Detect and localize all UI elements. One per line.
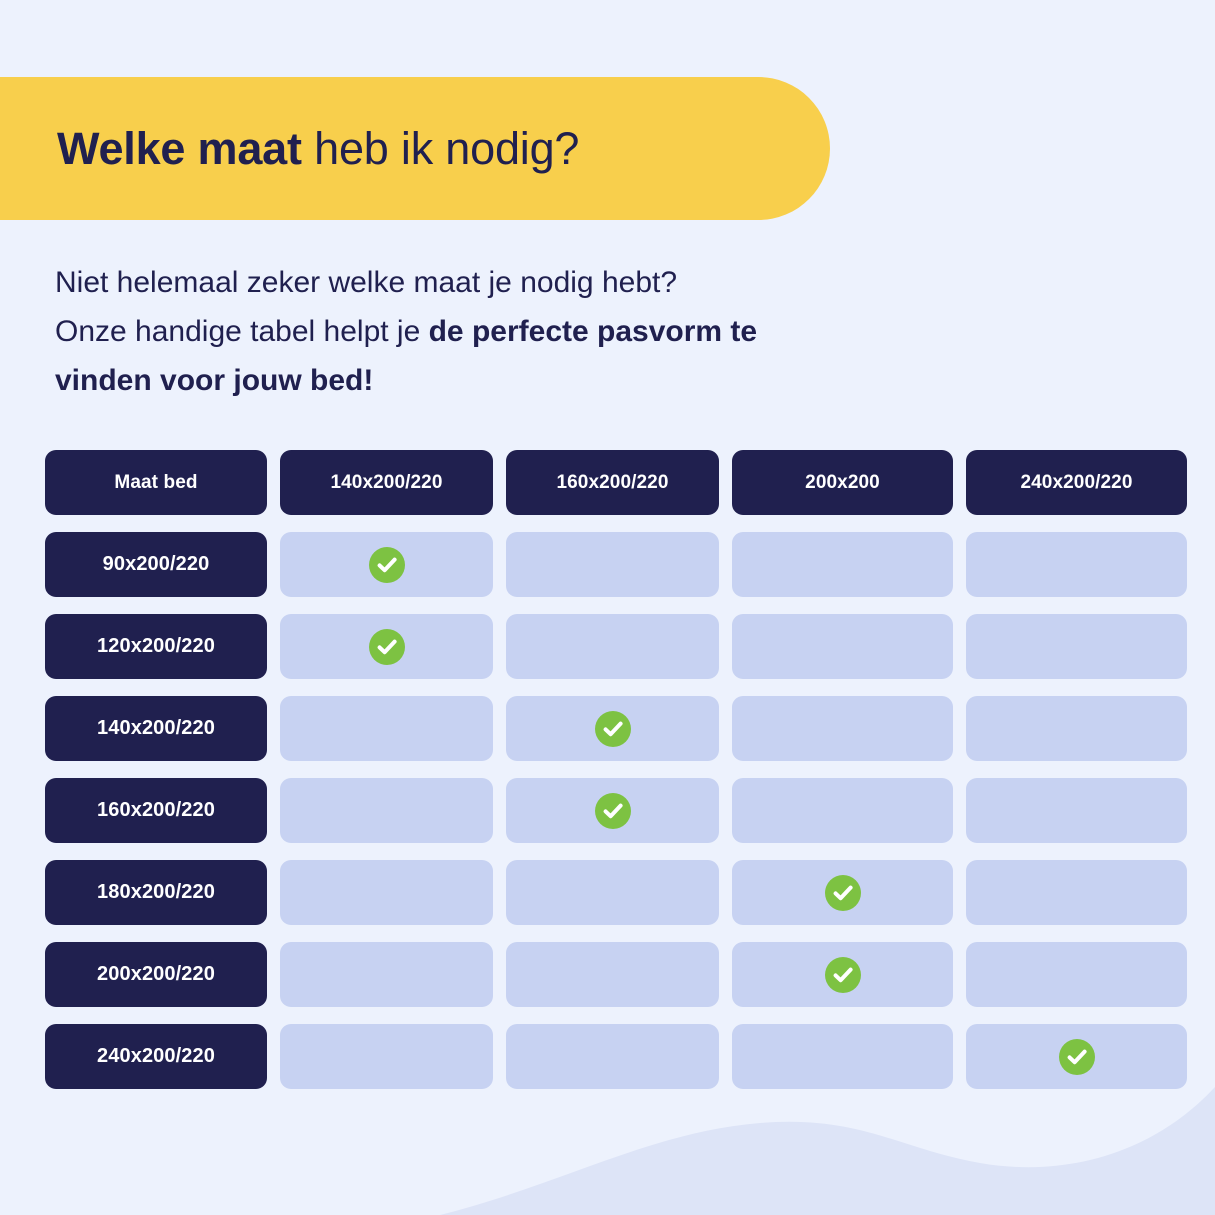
table-row-label: 90x200/220	[45, 532, 267, 597]
bed-size-table: Maat bed140x200/220160x200/220200x200240…	[45, 450, 1170, 1089]
header-banner: Welke maat heb ik nodig?	[0, 77, 830, 220]
table-header-cell: 200x200	[732, 450, 953, 515]
table-row: 240x200/220	[45, 1024, 1170, 1089]
table-row-label: 240x200/220	[45, 1024, 267, 1089]
table-row-label: 120x200/220	[45, 614, 267, 679]
table-cell-empty	[732, 614, 953, 679]
intro-line-3-bold: vinden voor jouw bed!	[55, 364, 373, 397]
table-row-label: 140x200/220	[45, 696, 267, 761]
table-cell-empty	[280, 1024, 493, 1089]
table-cell-empty	[966, 696, 1187, 761]
table-cell-empty	[732, 778, 953, 843]
table-cell-checked	[732, 860, 953, 925]
table-cell-empty	[280, 860, 493, 925]
table-cell-empty	[280, 942, 493, 1007]
table-header-row: Maat bed140x200/220160x200/220200x200240…	[45, 450, 1170, 515]
table-cell-empty	[732, 532, 953, 597]
table-header-cell: 160x200/220	[506, 450, 719, 515]
intro-paragraph: Niet helemaal zeker welke maat je nodig …	[55, 258, 1015, 405]
table-cell-empty	[280, 696, 493, 761]
table-cell-checked	[966, 1024, 1187, 1089]
table-row-label: 180x200/220	[45, 860, 267, 925]
intro-line-3: vinden voor jouw bed!	[55, 356, 1015, 405]
table-row: 120x200/220	[45, 614, 1170, 679]
table-cell-empty	[732, 696, 953, 761]
table-cell-empty	[506, 942, 719, 1007]
table-cell-checked	[732, 942, 953, 1007]
table-cell-checked	[280, 532, 493, 597]
table-row: 140x200/220	[45, 696, 1170, 761]
table-cell-empty	[966, 614, 1187, 679]
wave-shape	[440, 1087, 1215, 1215]
check-circle-icon	[369, 547, 405, 583]
table-cell-empty	[280, 778, 493, 843]
check-circle-icon	[825, 875, 861, 911]
table-row: 180x200/220	[45, 860, 1170, 925]
page-title-rest: heb ik nodig?	[302, 123, 579, 174]
table-cell-checked	[280, 614, 493, 679]
page-title: Welke maat heb ik nodig?	[0, 125, 579, 172]
check-circle-icon	[595, 711, 631, 747]
table-cell-checked	[506, 696, 719, 761]
table-cell-empty	[966, 778, 1187, 843]
check-circle-icon	[595, 793, 631, 829]
intro-line-1: Niet helemaal zeker welke maat je nodig …	[55, 258, 1015, 307]
table-row-label: 200x200/220	[45, 942, 267, 1007]
table-cell-empty	[506, 1024, 719, 1089]
table-row: 160x200/220	[45, 778, 1170, 843]
intro-line-2: Onze handige tabel helpt je de perfecte …	[55, 307, 1015, 356]
table-cell-empty	[966, 860, 1187, 925]
intro-line-2-plain: Onze handige tabel helpt je	[55, 315, 429, 348]
table-cell-empty	[966, 532, 1187, 597]
table-row: 200x200/220	[45, 942, 1170, 1007]
table-cell-empty	[506, 860, 719, 925]
table-cell-empty	[506, 614, 719, 679]
intro-line-2-bold: de perfecte pasvorm te	[429, 315, 757, 348]
table-row: 90x200/220	[45, 532, 1170, 597]
check-circle-icon	[369, 629, 405, 665]
table-cell-empty	[506, 532, 719, 597]
table-header-cell: 140x200/220	[280, 450, 493, 515]
table-row-label: 160x200/220	[45, 778, 267, 843]
table-cell-empty	[732, 1024, 953, 1089]
table-cell-checked	[506, 778, 719, 843]
table-header-cell: 240x200/220	[966, 450, 1187, 515]
page-title-bold: Welke maat	[57, 123, 302, 174]
check-circle-icon	[825, 957, 861, 993]
table-header-corner: Maat bed	[45, 450, 267, 515]
table-cell-empty	[966, 942, 1187, 1007]
check-circle-icon	[1059, 1039, 1095, 1075]
